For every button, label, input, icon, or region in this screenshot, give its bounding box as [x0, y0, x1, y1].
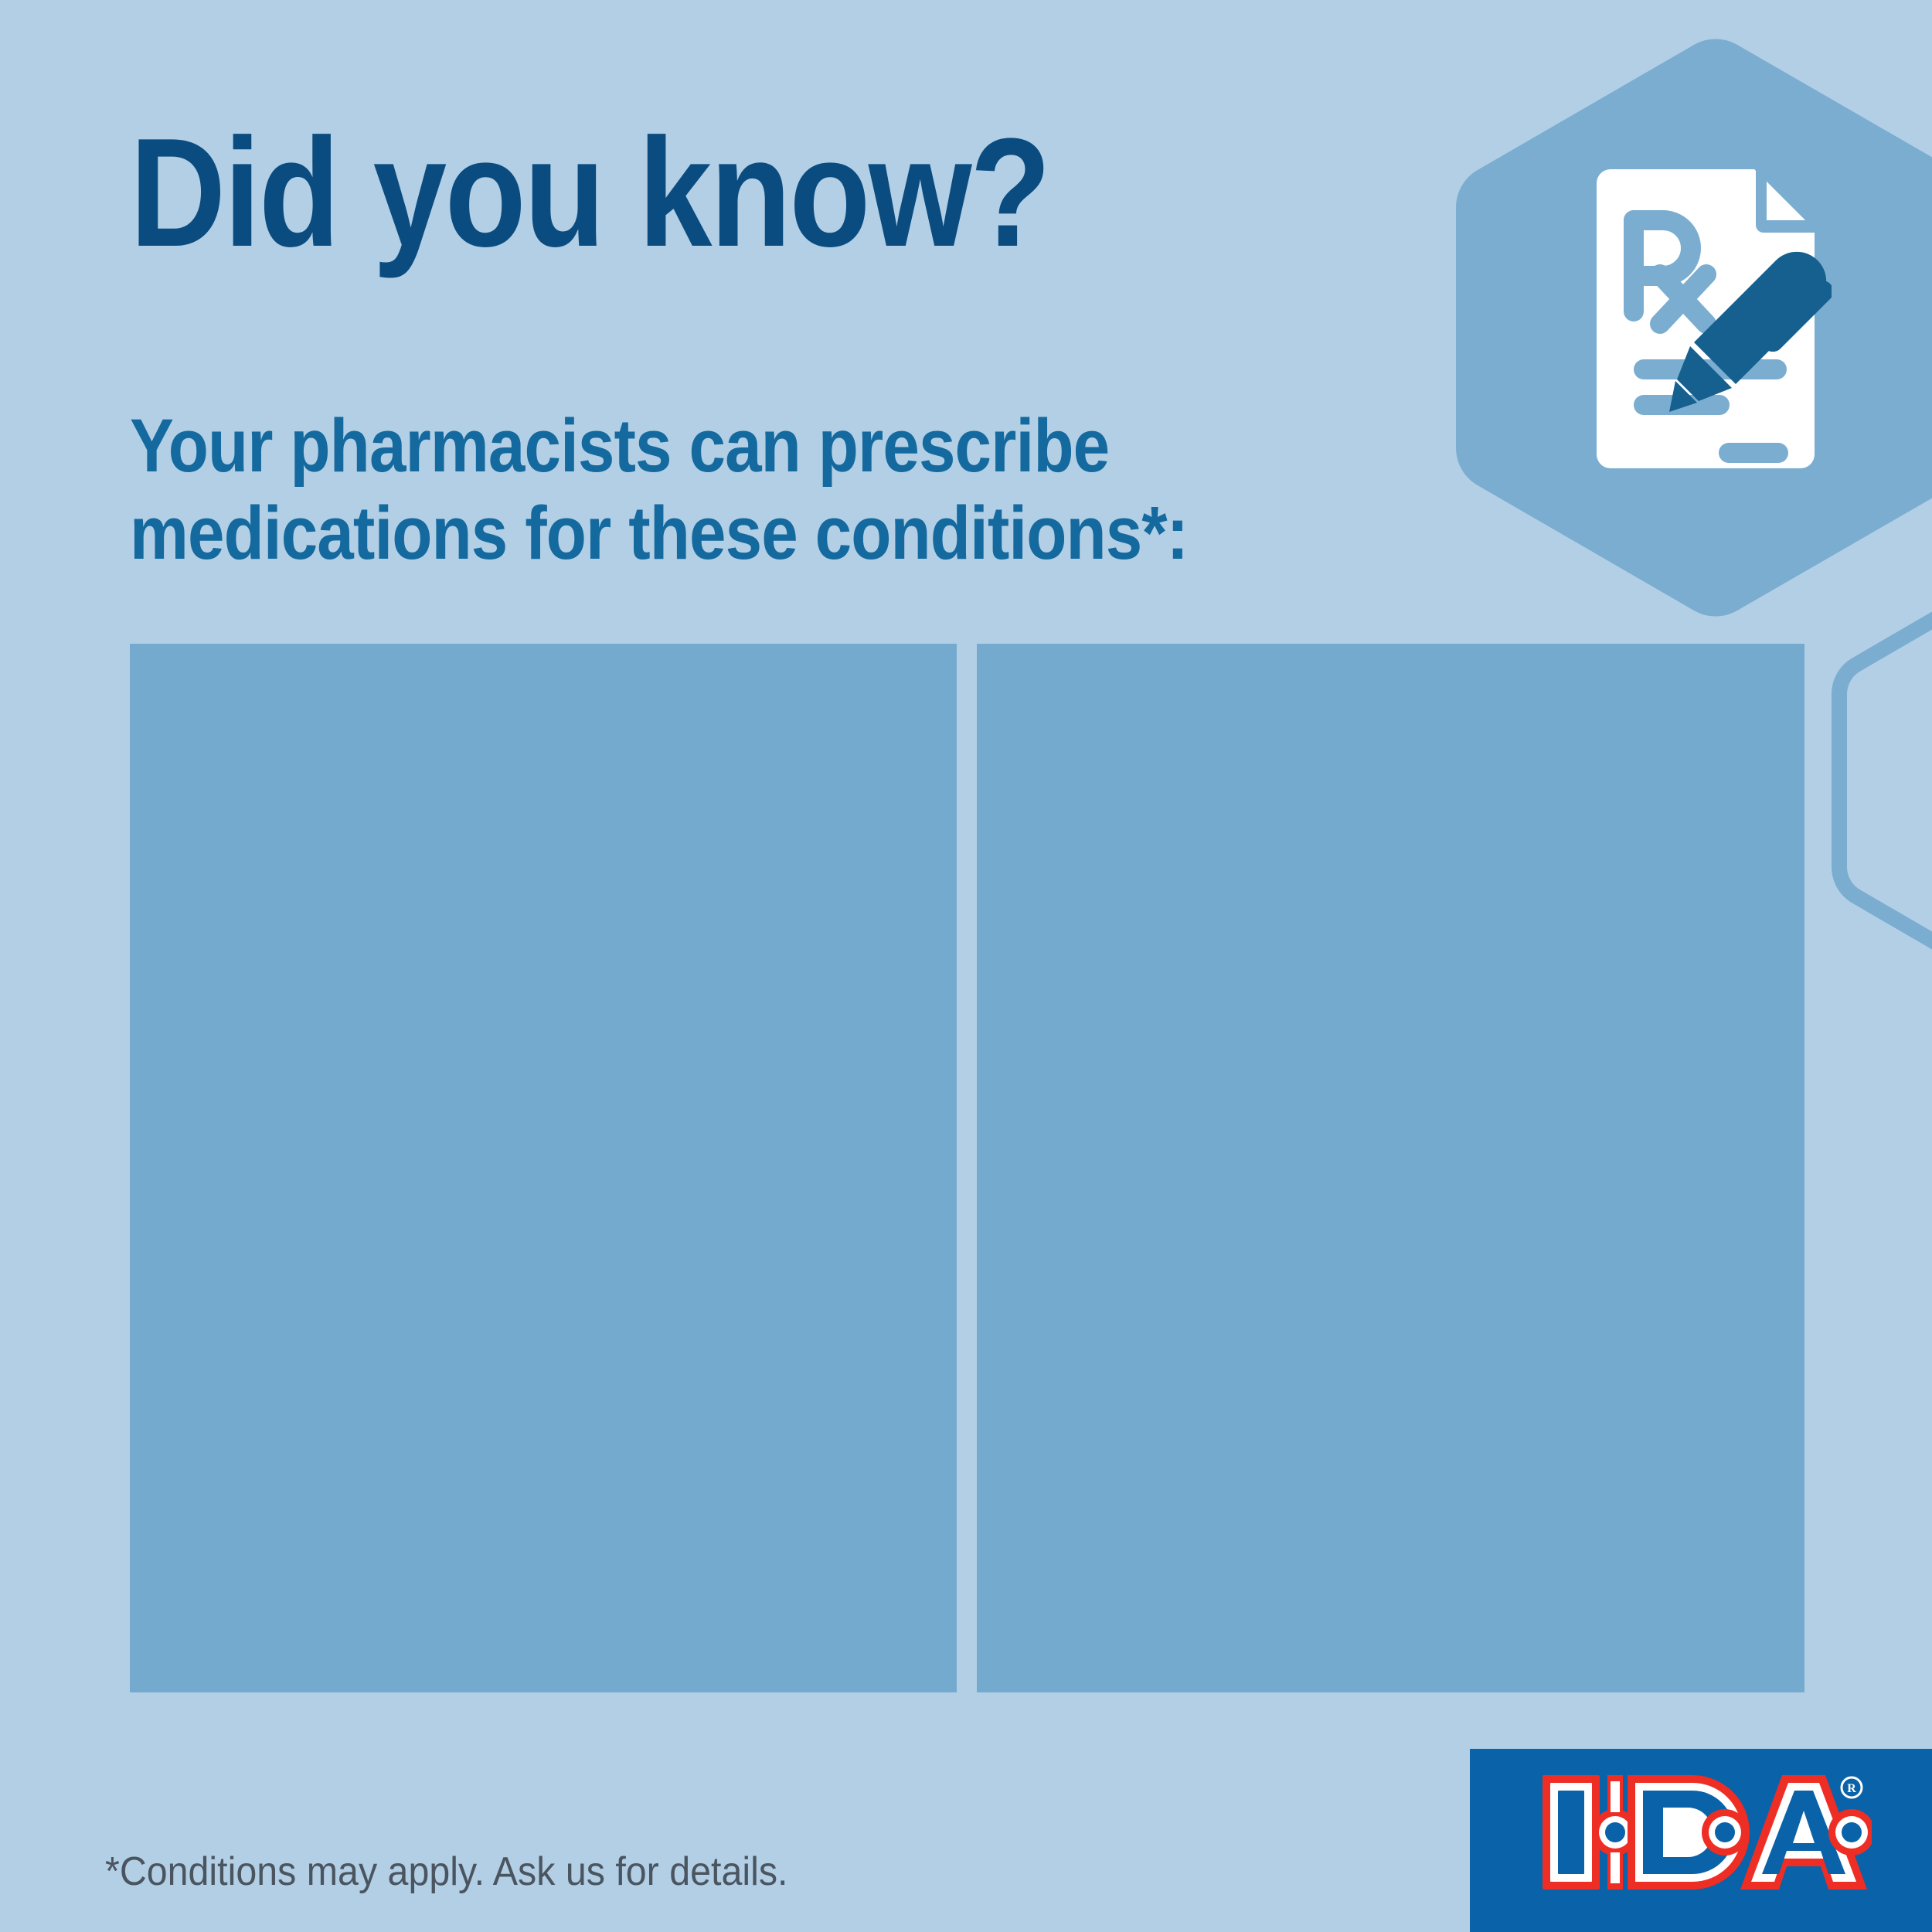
ida-logo-block: IDA Pharmacy logo	[1470, 1749, 1932, 1932]
social-card-root: Did you know? Your pharmacists can presc…	[0, 0, 1932, 1932]
conditions-panel-right-content	[977, 644, 1804, 1692]
subtitle-line-1: Your pharmacists can prescribe	[130, 402, 1354, 489]
document-fold-notch	[1756, 168, 1816, 233]
page-subtitle: Your pharmacists can prescribe medicatio…	[130, 402, 1354, 577]
conditions-panel-left[interactable]	[130, 644, 957, 1692]
conditions-panel-group	[130, 644, 1804, 1692]
conditions-panel-right[interactable]	[977, 644, 1804, 1692]
page-title: Did you know?	[130, 116, 1127, 270]
conditions-panel-left-content	[130, 644, 957, 1692]
ida-logo-wordmark: IDA Pharmacy logo	[1541, 1770, 1872, 1894]
hexagon-outline-decoration	[1839, 576, 1932, 985]
ida-dot-separator-2	[1702, 1809, 1748, 1855]
ida-letters-group: R	[1543, 1775, 1872, 1889]
ida-registered-mark: R	[1842, 1777, 1862, 1798]
document-signature-line	[1719, 443, 1788, 463]
prescription-document-icon	[1569, 166, 1832, 471]
svg-text:R: R	[1847, 1782, 1856, 1795]
disclaimer-text: *Conditions may apply. Ask us for detail…	[105, 1849, 787, 1895]
ida-letter-i	[1543, 1775, 1600, 1889]
subtitle-line-2: medications for these conditions*:	[130, 489, 1354, 577]
